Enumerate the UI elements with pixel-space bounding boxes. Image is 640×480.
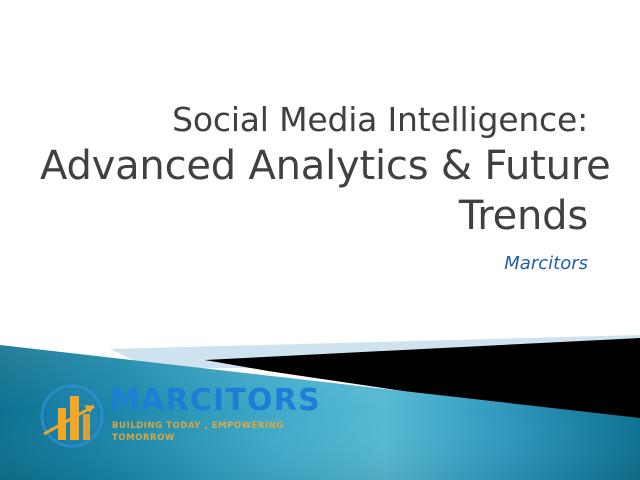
slide-subtitle: Marcitors [40, 253, 588, 275]
title-line-3: Trends [40, 191, 588, 241]
presentation-slide: Social Media Intelligence: Advanced Anal… [0, 0, 640, 480]
title-line-1: Social Media Intelligence: [40, 98, 588, 141]
logo-wordmark: MARCITORS [110, 384, 342, 418]
emblem-graphic [34, 378, 110, 454]
logo-text: MARCITORS BUILDING TODAY , EMPOWERING TO… [110, 384, 342, 444]
company-logo: MARCITORS BUILDING TODAY , EMPOWERING TO… [34, 378, 344, 456]
marcitors-emblem-icon [34, 378, 110, 454]
title-line-2: Advanced Analytics & Future [40, 141, 588, 191]
slide-title: Social Media Intelligence: Advanced Anal… [40, 98, 588, 241]
logo-tagline: BUILDING TODAY , EMPOWERING TOMORROW [112, 420, 342, 444]
